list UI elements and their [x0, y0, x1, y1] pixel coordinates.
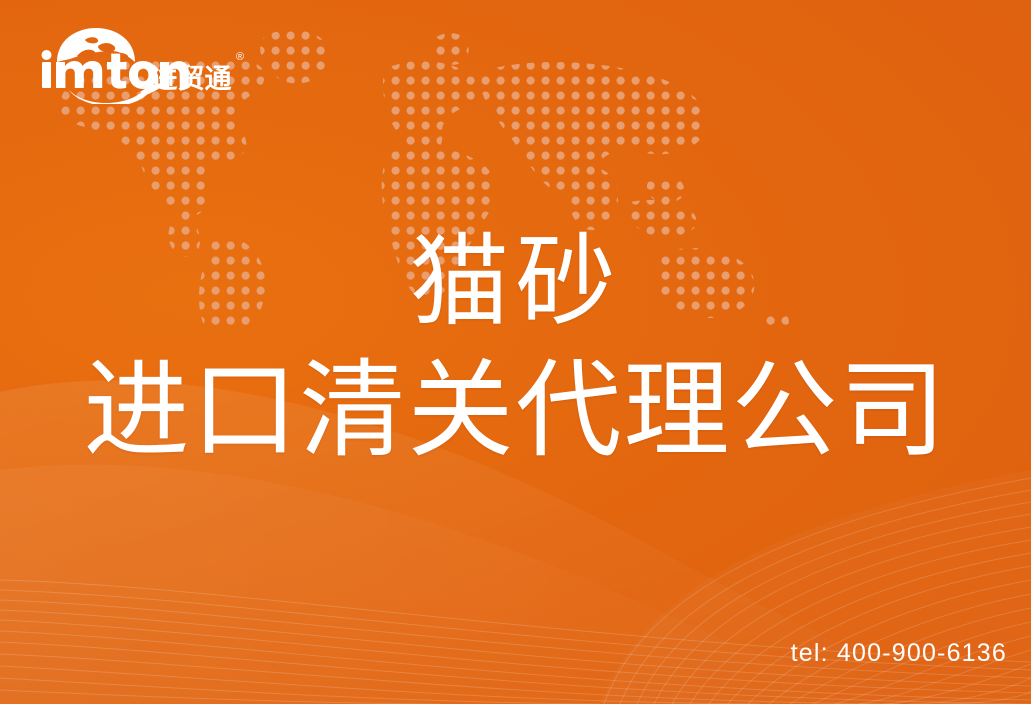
promo-banner: 进贸通 ® 猫砂 进口清关代理公司 tel: 400-900-6136 [0, 0, 1031, 704]
headline-line-2: 进口清关代理公司 [0, 358, 1031, 464]
headline-block: 猫砂 进口清关代理公司 [0, 232, 1031, 464]
globe-dot-icon [57, 28, 135, 62]
company-logo[interactable]: 进贸通 ® [36, 26, 246, 104]
contact-phone[interactable]: tel: 400-900-6136 [791, 639, 1007, 668]
registered-trademark-icon: ® [236, 51, 244, 63]
headline-line-1: 猫砂 [0, 232, 1031, 332]
logo-wordmark-cn: 进贸通 [151, 64, 232, 94]
